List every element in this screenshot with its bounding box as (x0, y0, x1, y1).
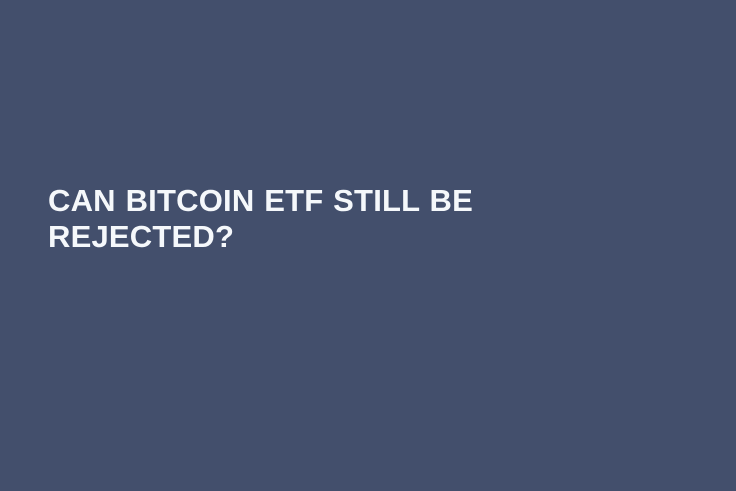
headline-line-2: REJECTED? (48, 219, 568, 255)
page-title: CAN BITCOIN ETF STILL BE REJECTED? (48, 183, 568, 255)
headline-line-1: CAN BITCOIN ETF STILL BE (48, 183, 568, 219)
article-cover-card: CAN BITCOIN ETF STILL BE REJECTED? (0, 0, 736, 491)
headline-block: CAN BITCOIN ETF STILL BE REJECTED? (48, 183, 568, 255)
